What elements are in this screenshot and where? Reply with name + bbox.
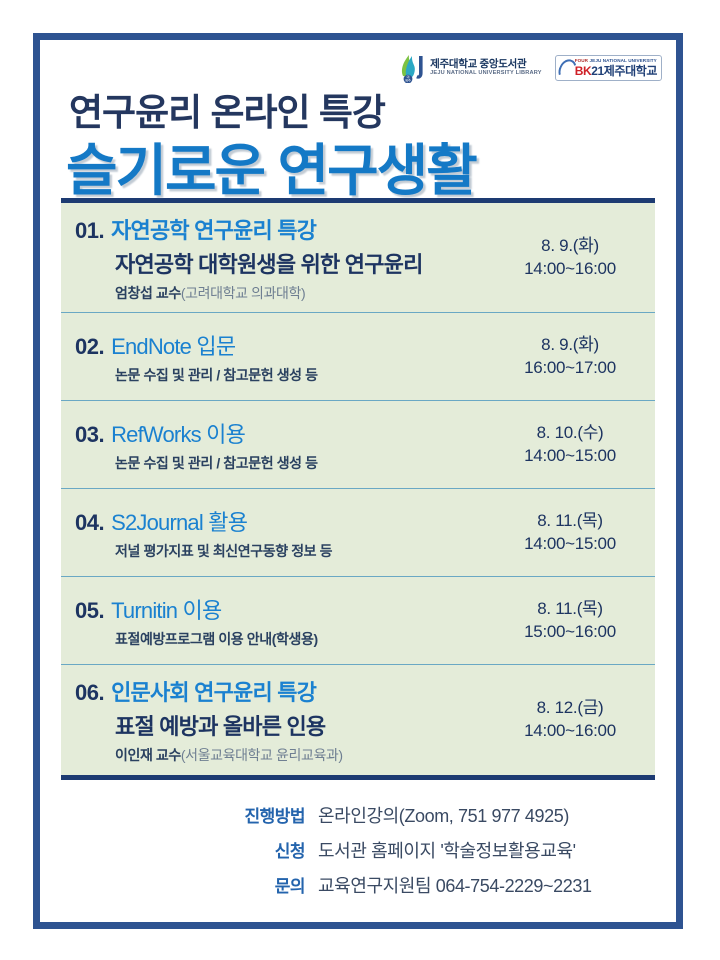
session-number: 02. — [75, 334, 104, 360]
jnu-library-name-ko: 제주대학교 중앙도서관 — [430, 59, 542, 70]
footer-label: 문의 — [209, 872, 305, 897]
session-row[interactable]: 02.EndNote 입문논문 수집 및 관리 / 참고문헌 생성 등8. 9.… — [61, 313, 655, 401]
session-number: 01. — [75, 218, 104, 244]
session-time: 16:00~17:00 — [495, 357, 645, 380]
bk21-wordmark: FOUR JEJU NATIONAL UNIVERSITY BK21제주대학교 — [575, 59, 657, 77]
session-details: 01.자연공학 연구윤리 특강자연공학 대학원생을 위한 연구윤리엄창섭 교수(… — [75, 213, 495, 303]
session-description: 표절예방프로그램 이용 안내(학생용) — [115, 629, 495, 649]
session-time: 14:00~16:00 — [495, 258, 645, 281]
bk21-logo: FOUR JEJU NATIONAL UNIVERSITY BK21제주대학교 — [555, 55, 662, 81]
jnu-library-flame-icon: 대 제주 — [399, 53, 425, 83]
session-table: 01.자연공학 연구윤리 특강자연공학 대학원생을 위한 연구윤리엄창섭 교수(… — [61, 198, 655, 780]
session-title: S2Journal 활용 — [111, 505, 247, 537]
svg-text:제주: 제주 — [405, 77, 411, 82]
headline-title: 슬기로운 연구생활 — [66, 126, 476, 207]
bk21-four-label: FOUR — [575, 58, 588, 63]
session-date: 8. 11.(목) — [495, 510, 645, 533]
session-date: 8. 9.(화) — [495, 334, 645, 357]
session-title-line: 01.자연공학 연구윤리 특강 — [75, 213, 495, 245]
session-date: 8. 9.(화) — [495, 235, 645, 258]
footer-value: 교육연구지원팀 064-754-2229~2231 — [318, 872, 648, 898]
session-row[interactable]: 01.자연공학 연구윤리 특강자연공학 대학원생을 위한 연구윤리엄창섭 교수(… — [61, 203, 655, 313]
footer-row: 신청도서관 홈페이지 '학술정보활용교육' — [40, 837, 648, 863]
session-title: Turnitin 이용 — [111, 593, 221, 625]
session-row[interactable]: 05.Turnitin 이용표절예방프로그램 이용 안내(학생용)8. 11.(… — [61, 577, 655, 665]
jnu-library-wordmark: 제주대학교 중앙도서관 JEJU NATIONAL UNIVERSITY LIB… — [430, 59, 542, 77]
jnu-library-name-en: JEJU NATIONAL UNIVERSITY LIBRARY — [430, 71, 542, 77]
session-speaker: 엄창섭 교수 — [115, 285, 181, 301]
session-schedule: 8. 12.(금)14:00~16:00 — [495, 697, 645, 743]
session-number: 06. — [75, 680, 104, 706]
session-time: 14:00~16:00 — [495, 720, 645, 743]
session-date: 8. 11.(목) — [495, 598, 645, 621]
footer-row: 문의교육연구지원팀 064-754-2229~2231 — [40, 872, 648, 898]
session-details: 02.EndNote 입문논문 수집 및 관리 / 참고문헌 생성 등 — [75, 329, 495, 385]
session-time: 15:00~16:00 — [495, 621, 645, 644]
session-title-line: 05.Turnitin 이용 — [75, 593, 495, 625]
bk21-name-ko: 제주대학교 — [604, 64, 657, 78]
jnu-library-logo: 대 제주 제주대학교 중앙도서관 JEJU NATIONAL UNIVERSIT… — [399, 53, 542, 83]
session-description: 저널 평가지표 및 최신연구동향 정보 등 — [115, 541, 495, 561]
session-title: RefWorks 이용 — [111, 417, 245, 449]
session-affiliation: (고려대학교 의과대학) — [181, 285, 305, 301]
session-row[interactable]: 06.인문사회 연구윤리 특강표절 예방과 올바른 인용이인재 교수(서울교육대… — [61, 665, 655, 775]
footer-label: 진행방법 — [209, 802, 305, 827]
session-title: 자연공학 연구윤리 특강 — [111, 213, 316, 245]
session-title-line: 04.S2Journal 활용 — [75, 505, 495, 537]
session-title-line: 02.EndNote 입문 — [75, 329, 495, 361]
session-description: 논문 수집 및 관리 / 참고문헌 생성 등 — [115, 453, 495, 473]
session-number: 05. — [75, 598, 104, 624]
session-date: 8. 12.(금) — [495, 697, 645, 720]
session-row[interactable]: 04.S2Journal 활용저널 평가지표 및 최신연구동향 정보 등8. 1… — [61, 489, 655, 577]
session-schedule: 8. 9.(화)14:00~16:00 — [495, 235, 645, 281]
session-schedule: 8. 11.(목)15:00~16:00 — [495, 598, 645, 644]
session-row[interactable]: 03.RefWorks 이용논문 수집 및 관리 / 참고문헌 생성 등8. 1… — [61, 401, 655, 489]
session-number: 04. — [75, 510, 104, 536]
bk21-mainline: BK21제주대학교 — [575, 65, 657, 77]
session-schedule: 8. 10.(수)14:00~15:00 — [495, 422, 645, 468]
footer-value: 온라인강의(Zoom, 751 977 4925) — [318, 802, 648, 828]
session-details: 05.Turnitin 이용표절예방프로그램 이용 안내(학생용) — [75, 593, 495, 649]
session-title: 인문사회 연구윤리 특강 — [111, 675, 316, 707]
session-details: 04.S2Journal 활용저널 평가지표 및 최신연구동향 정보 등 — [75, 505, 495, 561]
footer-value: 도서관 홈페이지 '학술정보활용교육' — [318, 837, 648, 863]
session-time: 14:00~15:00 — [495, 533, 645, 556]
session-title: EndNote 입문 — [111, 329, 235, 361]
session-title-line: 06.인문사회 연구윤리 특강 — [75, 675, 495, 707]
bk21-21-mark: 21 — [591, 64, 604, 78]
session-speaker: 이인재 교수 — [115, 747, 181, 763]
bk21-swoosh-icon — [558, 59, 573, 78]
poster-frame: 대 제주 제주대학교 중앙도서관 JEJU NATIONAL UNIVERSIT… — [33, 33, 683, 929]
session-date: 8. 10.(수) — [495, 422, 645, 445]
session-details: 06.인문사회 연구윤리 특강표절 예방과 올바른 인용이인재 교수(서울교육대… — [75, 675, 495, 765]
session-details: 03.RefWorks 이용논문 수집 및 관리 / 참고문헌 생성 등 — [75, 417, 495, 473]
footer-label: 신청 — [209, 837, 305, 862]
session-title-line: 03.RefWorks 이용 — [75, 417, 495, 449]
session-description: 이인재 교수(서울교육대학교 윤리교육과) — [115, 745, 495, 765]
session-number: 03. — [75, 422, 104, 448]
session-description: 논문 수집 및 관리 / 참고문헌 생성 등 — [115, 365, 495, 385]
poster-header: 대 제주 제주대학교 중앙도서관 JEJU NATIONAL UNIVERSIT… — [40, 40, 676, 198]
poster-footer: 진행방법온라인강의(Zoom, 751 977 4925)신청도서관 홈페이지 … — [40, 802, 648, 898]
session-schedule: 8. 9.(화)16:00~17:00 — [495, 334, 645, 380]
bk21-university-label: JEJU NATIONAL UNIVERSITY — [590, 58, 657, 63]
bk21-bk-mark: BK — [575, 64, 592, 78]
footer-row: 진행방법온라인강의(Zoom, 751 977 4925) — [40, 802, 648, 828]
session-subtitle: 자연공학 대학원생을 위한 연구윤리 — [115, 247, 495, 279]
session-schedule: 8. 11.(목)14:00~15:00 — [495, 510, 645, 556]
session-affiliation: (서울교육대학교 윤리교육과) — [181, 747, 343, 763]
session-subtitle: 표절 예방과 올바른 인용 — [115, 709, 495, 741]
session-description: 엄창섭 교수(고려대학교 의과대학) — [115, 283, 495, 303]
logo-row: 대 제주 제주대학교 중앙도서관 JEJU NATIONAL UNIVERSIT… — [399, 53, 662, 83]
session-time: 14:00~15:00 — [495, 445, 645, 468]
